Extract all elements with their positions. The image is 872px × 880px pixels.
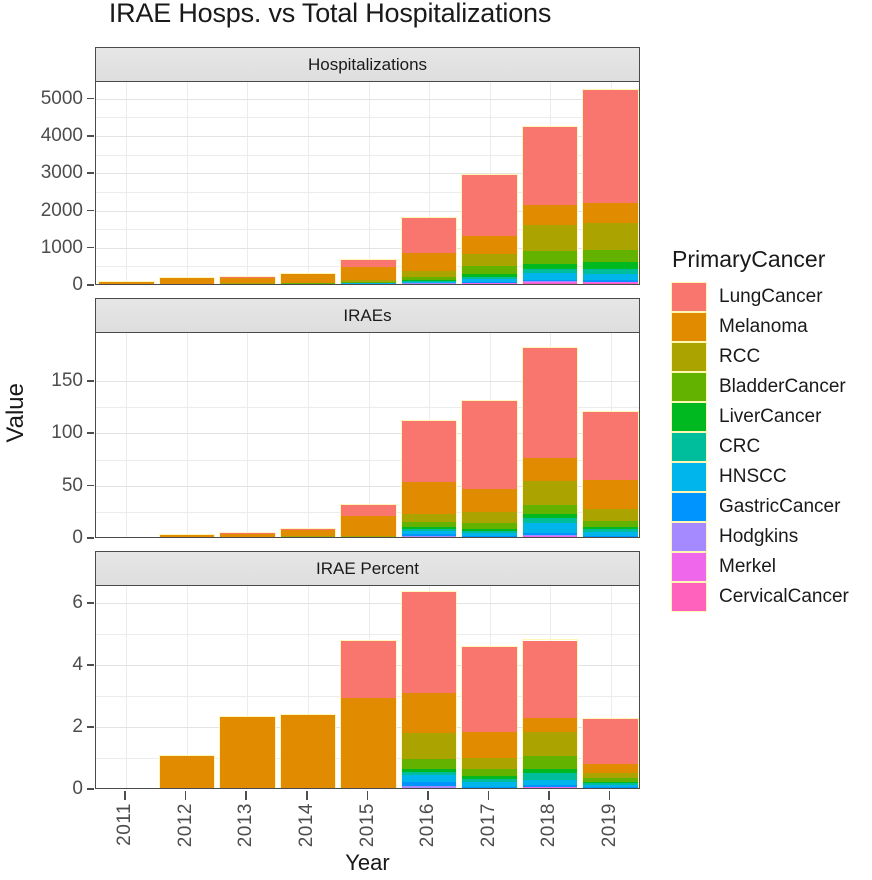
legend-label: HNSCC (719, 466, 787, 488)
x-axis-tick-label: 2012 (175, 803, 197, 847)
stacked-bar[interactable] (281, 274, 336, 284)
legend-label: GastricCancer (719, 496, 840, 518)
bar-segment-melanoma (341, 698, 396, 788)
y-axis-tick-mark (87, 726, 94, 728)
bar-segment-bladdercancer (462, 266, 517, 275)
bar-segment-melanoma (523, 205, 578, 225)
facet-strip-label: IRAEs (95, 298, 640, 333)
x-axis-tick-mark (245, 791, 247, 800)
x-axis-tick-mark (124, 791, 126, 800)
y-axis-tick-label: 0 (3, 274, 83, 296)
x-axis-tick-mark (306, 791, 308, 800)
bar-segment-rcc (462, 254, 517, 266)
legend-swatch-cervicalcancer (672, 583, 706, 611)
bar-segment-livercancer (583, 262, 638, 269)
legend-item[interactable]: RCC (672, 342, 872, 372)
bar-segment-merkel (523, 787, 578, 788)
bar-segment-lungcancer (462, 647, 517, 732)
bar-segment-lungcancer (462, 401, 517, 489)
bar-segment-rcc (402, 733, 457, 759)
bar-segment-melanoma (402, 482, 457, 514)
y-axis-tick-mark (87, 98, 94, 100)
bar-segment-rcc (583, 223, 638, 250)
y-axis-tick-mark (87, 788, 94, 790)
bar-segment-hnscc (523, 523, 578, 532)
bar-segment-melanoma (462, 732, 517, 758)
bar-segment-lungcancer (341, 505, 396, 517)
x-axis-tick-label: 2017 (478, 803, 500, 847)
y-axis-tick-mark (87, 602, 94, 604)
stacked-bar[interactable] (220, 717, 275, 788)
y-axis-tick-mark (87, 247, 94, 249)
plot-panel (95, 82, 640, 285)
bar-segment-rcc (523, 481, 578, 505)
bar-segment-cervicalcancer (523, 283, 578, 284)
bar-segment-melanoma (160, 756, 215, 788)
bar-segment-gastriccancer (583, 536, 638, 537)
legend-item[interactable]: CRC (672, 432, 872, 462)
bar-segment-melanoma (523, 718, 578, 732)
x-axis-tick-label: 2015 (357, 803, 379, 847)
stacked-bar[interactable] (462, 175, 517, 284)
bar-segment-bladdercancer (583, 250, 638, 262)
bar-segment-lungcancer (402, 421, 457, 482)
stacked-bar[interactable] (523, 127, 578, 284)
legend-item[interactable]: Merkel (672, 552, 872, 582)
y-axis-tick-label: 1000 (3, 237, 83, 259)
stacked-bar[interactable] (523, 640, 578, 788)
bar-group (96, 82, 639, 284)
bar-segment-melanoma (220, 717, 275, 788)
bar-segment-gastriccancer (462, 536, 517, 537)
bar-segment-melanoma (402, 693, 457, 733)
bar-segment-bladdercancer (523, 251, 578, 265)
bar-segment-lungcancer (583, 719, 638, 764)
bar-segment-rcc (583, 509, 638, 522)
bar-group (96, 333, 639, 537)
bar-segment-bladdercancer (523, 756, 578, 769)
stacked-bar[interactable] (160, 756, 215, 788)
facet-irae-percent: IRAE Percent (95, 551, 640, 789)
legend-item[interactable]: Hodgkins (672, 522, 872, 552)
bar-segment-melanoma (583, 480, 638, 509)
stacked-bar[interactable] (99, 282, 154, 284)
stacked-bar[interactable] (462, 647, 517, 788)
bar-segment-gastriccancer (583, 787, 638, 788)
bar-segment-lungcancer (341, 641, 396, 698)
y-axis-tick-label: 150 (3, 370, 83, 392)
y-axis-tick-label: 0 (3, 778, 83, 800)
legend-swatch-hodgkins (672, 523, 706, 551)
bar-segment-lungcancer (523, 641, 578, 718)
bar-segment-rcc (523, 732, 578, 756)
legend-label: Melanoma (719, 316, 808, 338)
bar-segment-crc (523, 773, 578, 780)
legend-swatch-gastriccancer (672, 493, 706, 521)
bar-segment-bladdercancer (462, 769, 517, 776)
x-axis-tick-label: 2018 (538, 803, 560, 847)
stacked-bar[interactable] (281, 529, 336, 537)
legend-item[interactable]: LungCancer (672, 282, 872, 312)
bar-segment-lungcancer (341, 260, 396, 267)
plot-panel (95, 586, 640, 789)
y-axis-tick-label: 3000 (3, 162, 83, 184)
legend-title: PrimaryCancer (672, 246, 872, 273)
y-axis-tick-mark (87, 485, 94, 487)
chart-root: IRAE Hosps. vs Total Hospitalizations Va… (0, 0, 872, 880)
x-axis-tick-mark (427, 791, 429, 800)
stacked-bar[interactable] (402, 421, 457, 537)
stacked-bar[interactable] (341, 505, 396, 537)
x-axis-tick-label: 2011 (114, 803, 136, 846)
y-axis-tick-label: 100 (3, 422, 83, 444)
bar-segment-hodgkins (402, 536, 457, 537)
facet-strip-label: IRAE Percent (95, 551, 640, 586)
y-axis-tick-label: 4 (3, 654, 83, 676)
stacked-bar[interactable] (583, 90, 638, 284)
bar-segment-melanoma (341, 516, 396, 536)
legend-swatch-melanoma (672, 313, 706, 341)
legend-label: BladderCancer (719, 376, 846, 398)
facet-hospitalizations: Hospitalizations (95, 47, 640, 285)
legend-swatch-lungcancer (672, 283, 706, 311)
legend-item[interactable]: BladderCancer (672, 372, 872, 402)
legend-swatch-livercancer (672, 403, 706, 431)
bar-segment-rcc (462, 512, 517, 524)
facet-iraes: IRAEs (95, 298, 640, 538)
bar-segment-lungcancer (462, 175, 517, 236)
legend-swatch-crc (672, 433, 706, 461)
y-axis-tick-mark (87, 380, 94, 382)
stacked-bar[interactable] (281, 715, 336, 788)
x-axis-tick-mark (609, 791, 611, 800)
stacked-bar[interactable] (462, 401, 517, 537)
bar-segment-lungcancer (583, 90, 638, 202)
bar-group (96, 586, 639, 788)
stacked-bar[interactable] (160, 278, 215, 284)
bar-segment-rcc (462, 758, 517, 769)
y-axis-tick-mark (87, 172, 94, 174)
y-axis-tick-label: 50 (3, 475, 83, 497)
bar-segment-bladdercancer (523, 505, 578, 514)
x-axis-tick-mark (367, 791, 369, 800)
facet-strip-label: Hospitalizations (95, 47, 640, 82)
legend-item[interactable]: HNSCC (672, 462, 872, 492)
y-axis-tick-label: 6 (3, 592, 83, 614)
x-axis-tick-label: 2014 (296, 803, 318, 847)
legend: PrimaryCancer LungCancerMelanomaRCCBladd… (672, 246, 872, 612)
bar-segment-melanoma (281, 715, 336, 788)
x-axis-tick-mark (488, 791, 490, 800)
x-axis-tick-label: 2019 (599, 803, 621, 847)
stacked-bar[interactable] (402, 218, 457, 284)
bar-segment-melanoma (462, 236, 517, 254)
stacked-bar[interactable] (341, 641, 396, 788)
bar-segment-melanoma (341, 267, 396, 280)
stacked-bar[interactable] (583, 719, 638, 788)
legend-label: LiverCancer (719, 406, 821, 428)
y-axis-tick-mark (87, 537, 94, 539)
bar-segment-hodgkins (402, 786, 457, 788)
legend-items: LungCancerMelanomaRCCBladderCancerLiverC… (672, 282, 872, 612)
legend-label: LungCancer (719, 286, 823, 308)
bar-segment-lungcancer (523, 348, 578, 458)
legend-item[interactable]: CervicalCancer (672, 582, 872, 612)
stacked-bar[interactable] (523, 348, 578, 537)
bar-segment-melanoma (583, 203, 638, 223)
legend-item[interactable]: LiverCancer (672, 402, 872, 432)
x-axis-title: Year (95, 850, 640, 876)
y-axis-tick-label: 0 (3, 527, 83, 549)
legend-label: RCC (719, 346, 760, 368)
stacked-bar[interactable] (160, 535, 215, 537)
bar-segment-hnscc (523, 273, 578, 280)
stacked-bar[interactable] (341, 260, 396, 284)
bar-segment-lungcancer (583, 412, 638, 480)
legend-label: Hodgkins (719, 526, 798, 548)
stacked-bar[interactable] (402, 592, 457, 788)
legend-label: Merkel (719, 556, 776, 578)
y-axis-tick-label: 2000 (3, 200, 83, 222)
y-axis-tick-mark (87, 135, 94, 137)
plot-panel (95, 333, 640, 538)
y-axis-tick-mark (87, 664, 94, 666)
bar-segment-lungcancer (523, 127, 578, 204)
stacked-bar[interactable] (583, 412, 638, 538)
legend-label: CervicalCancer (719, 586, 849, 608)
stacked-bar[interactable] (220, 277, 275, 284)
bar-segment-bladdercancer (402, 759, 457, 768)
bar-segment-gastriccancer (462, 787, 517, 788)
legend-swatch-hnscc (672, 463, 706, 491)
legend-swatch-bladdercancer (672, 373, 706, 401)
x-axis-tick-mark (185, 791, 187, 800)
bar-segment-melanoma (402, 253, 457, 271)
bar-segment-rcc (523, 225, 578, 251)
chart-title: IRAE Hosps. vs Total Hospitalizations (0, 0, 660, 29)
legend-item[interactable]: GastricCancer (672, 492, 872, 522)
y-axis-tick-label: 2 (3, 716, 83, 738)
bar-segment-melanoma (281, 274, 336, 283)
legend-item[interactable]: Melanoma (672, 312, 872, 342)
y-axis-tick-label: 4000 (3, 125, 83, 147)
bar-segment-rcc (341, 536, 396, 537)
bar-segment-melanoma (462, 489, 517, 512)
bar-segment-cervicalcancer (583, 283, 638, 284)
y-axis-tick-mark (87, 210, 94, 212)
bar-segment-melanoma (99, 282, 154, 284)
stacked-bar[interactable] (220, 533, 275, 537)
bar-segment-lungcancer (402, 592, 457, 693)
x-axis-tick-mark (548, 791, 550, 800)
legend-swatch-merkel (672, 553, 706, 581)
y-axis-tick-mark (87, 284, 94, 286)
y-axis-tick-label: 5000 (3, 88, 83, 110)
legend-label: CRC (719, 436, 760, 458)
bar-segment-lungcancer (402, 218, 457, 253)
bar-segment-melanoma (583, 764, 638, 773)
x-axis-tick-label: 2016 (417, 803, 439, 847)
bar-segment-hnscc (402, 775, 457, 782)
legend-swatch-rcc (672, 343, 706, 371)
bar-segment-melanoma (523, 458, 578, 481)
bar-segment-rcc (402, 514, 457, 522)
bar-segment-merkel (523, 536, 578, 537)
x-axis-tick-label: 2013 (235, 803, 257, 847)
y-axis-tick-mark (87, 432, 94, 434)
